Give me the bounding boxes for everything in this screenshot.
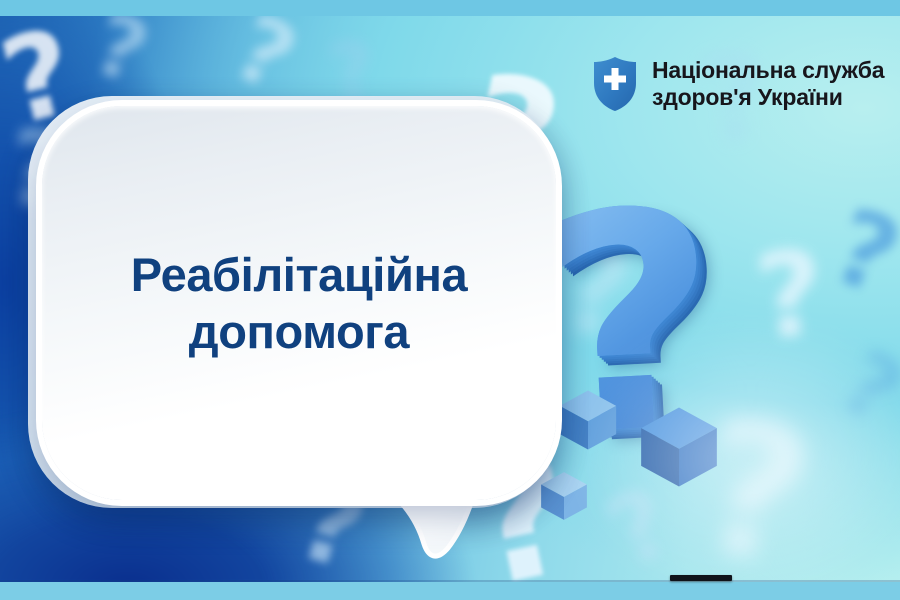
headline: Реабілітаційна допомога — [105, 246, 493, 361]
nhsu-logo-text: Національна служба здоров'я України — [652, 57, 884, 111]
top-band — [0, 0, 900, 16]
headline-line-1: Реабілітаційна — [131, 246, 467, 303]
bottom-band — [0, 582, 900, 600]
nhsu-logo: Національна служба здоров'я України — [592, 56, 884, 112]
shield-cross-icon — [592, 56, 638, 112]
headline-line-2: допомога — [131, 303, 467, 360]
nhsu-logo-line-2: здоров'я України — [652, 84, 884, 111]
dark-bar — [670, 575, 732, 581]
background-light-wash — [520, 310, 900, 600]
nhsu-logo-line-1: Національна служба — [652, 57, 884, 84]
speech-bubble: Реабілітаційна допомога — [42, 106, 556, 500]
banner-canvas: ???????????????? ? ? Реабілітаційна допо… — [0, 0, 900, 600]
